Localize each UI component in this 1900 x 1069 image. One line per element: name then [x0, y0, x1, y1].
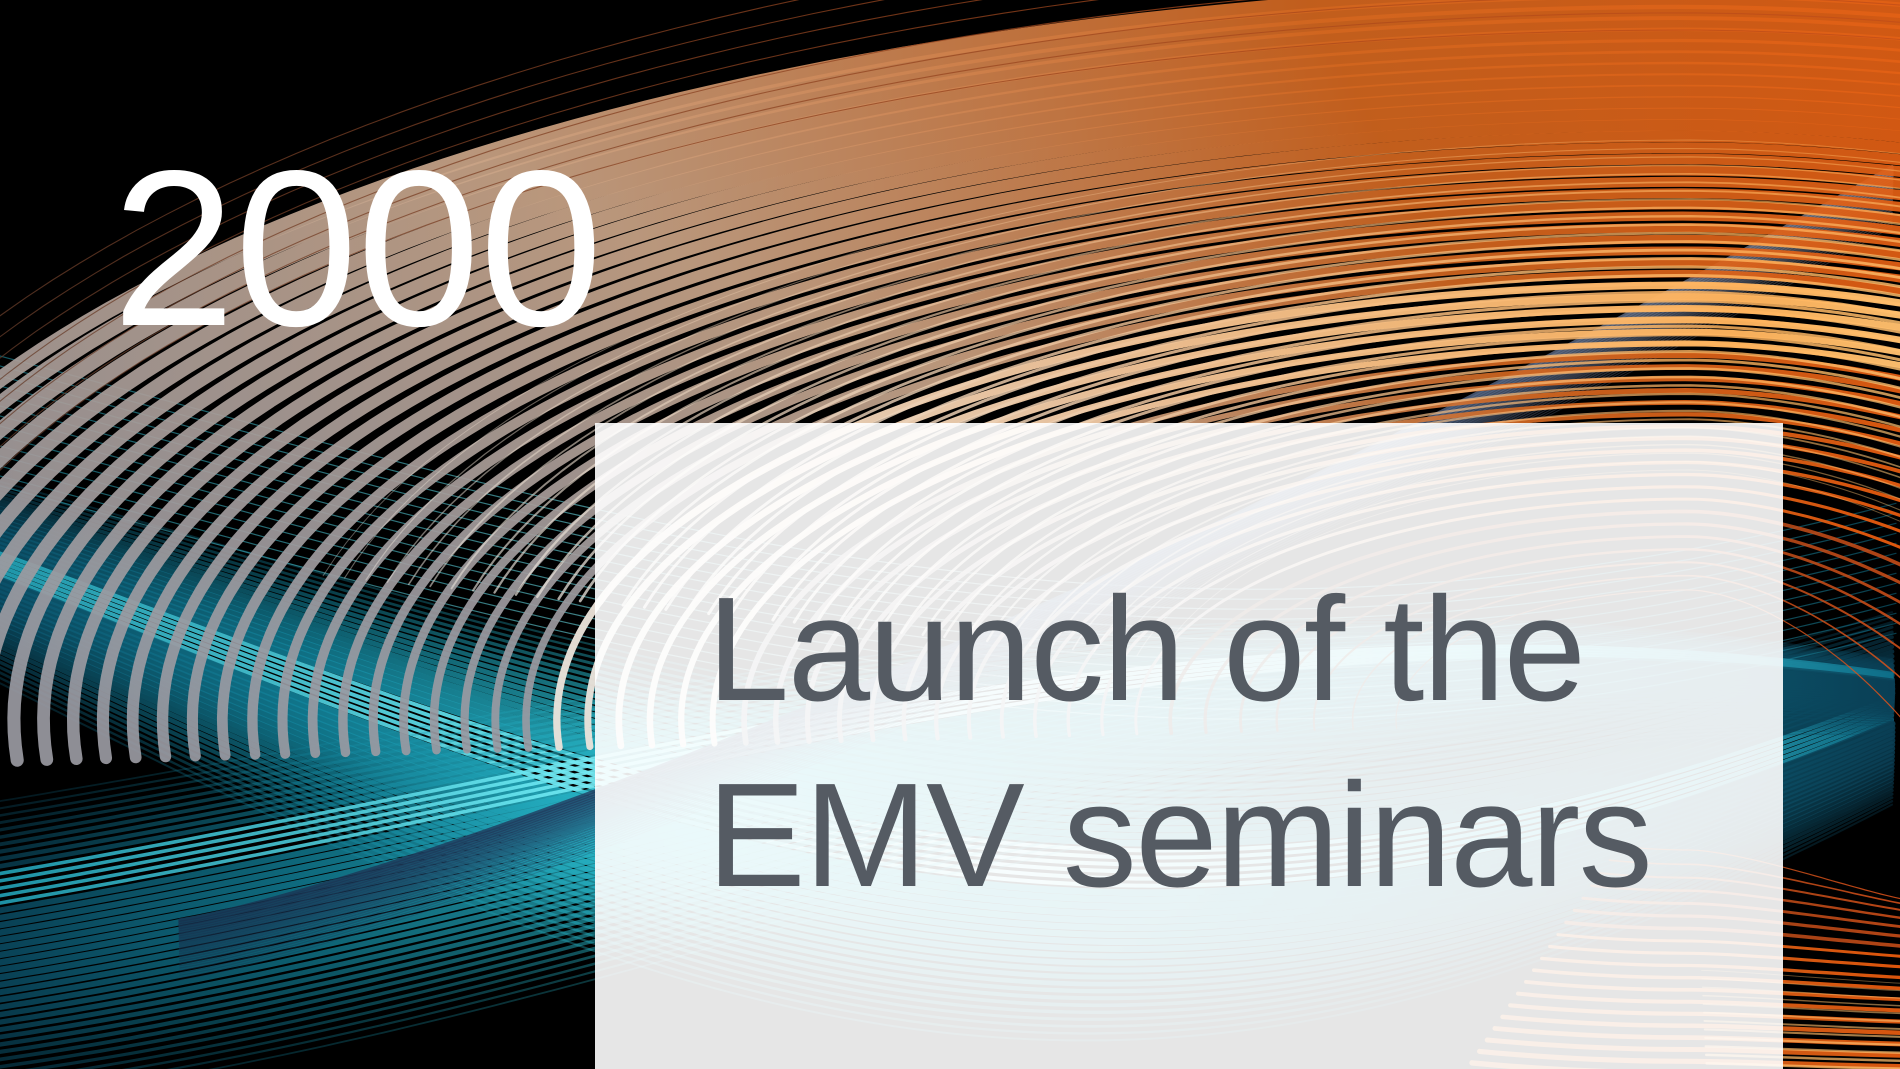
caption-line-2: EMV seminars [707, 743, 1767, 929]
caption-line-1: Launch of the [707, 557, 1767, 743]
banner-canvas: 2000 Launch of the EMV seminars [0, 0, 1900, 1069]
caption-text: Launch of the EMV seminars [707, 557, 1767, 929]
year-label: 2000 [112, 138, 602, 360]
